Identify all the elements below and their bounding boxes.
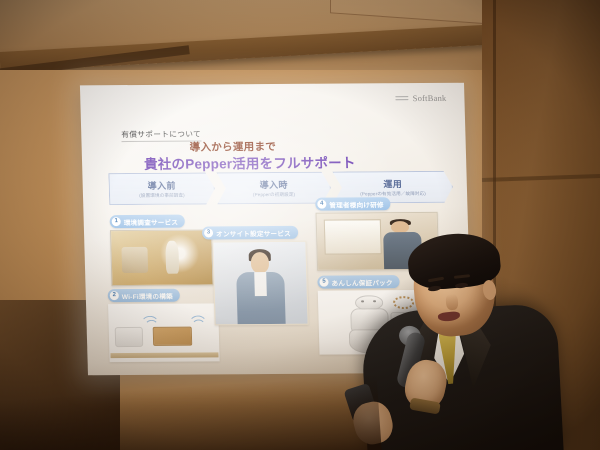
- service-number: 3: [204, 228, 213, 237]
- photo-scene: SoftBank 有償サポートについて 導入から運用まで 貴社のPepper活用…: [0, 0, 600, 450]
- presenter: [352, 236, 600, 450]
- service-label: オンサイト設定サービス: [216, 227, 291, 238]
- service-card-1: 1 環境調査サービス: [109, 208, 215, 286]
- service-thumbnail-onsite: [212, 241, 308, 326]
- service-thumbnail-wifi: [108, 303, 220, 362]
- stage-label: 導入前: [147, 178, 176, 191]
- service-pill: 2 Wi-Fi環境の構築: [108, 289, 180, 302]
- stage-label: 導入時: [259, 178, 288, 191]
- service-number: 5: [319, 278, 328, 287]
- stage-before-intro: 導入前 (設置環境の事前調査): [108, 172, 215, 205]
- service-thumbnail-site-survey: [110, 229, 214, 286]
- stage-label: 運用: [383, 177, 402, 190]
- service-label: 管理者様向け研修: [329, 199, 384, 209]
- stage-sublabel: (設置環境の事前調査): [139, 193, 185, 199]
- slide-headline-main: 貴社のPepper活用をフルサポート: [144, 151, 356, 172]
- service-pill: 3 オンサイト設定サービス: [202, 226, 298, 240]
- stage-at-intro: 導入時 (Pepperの初期設定): [216, 172, 331, 205]
- service-pill: 1 環境調査サービス: [110, 215, 186, 229]
- service-label: 環境調査サービス: [124, 216, 179, 226]
- service-label: Wi-Fi環境の構築: [122, 290, 173, 300]
- service-number: 2: [110, 291, 119, 300]
- service-number: 4: [317, 200, 326, 209]
- service-number: 1: [112, 217, 121, 226]
- service-pill: 4 管理者様向け研修: [315, 197, 391, 211]
- softbank-dashes-icon: [396, 94, 409, 102]
- presenter-nose: [445, 294, 458, 311]
- brand-name: SoftBank: [413, 93, 447, 103]
- service-card-3: 3 オンサイト設定サービス: [202, 220, 323, 326]
- stage-sublabel: (Pepperの初期設定): [253, 192, 295, 198]
- softbank-logo: SoftBank: [396, 93, 447, 103]
